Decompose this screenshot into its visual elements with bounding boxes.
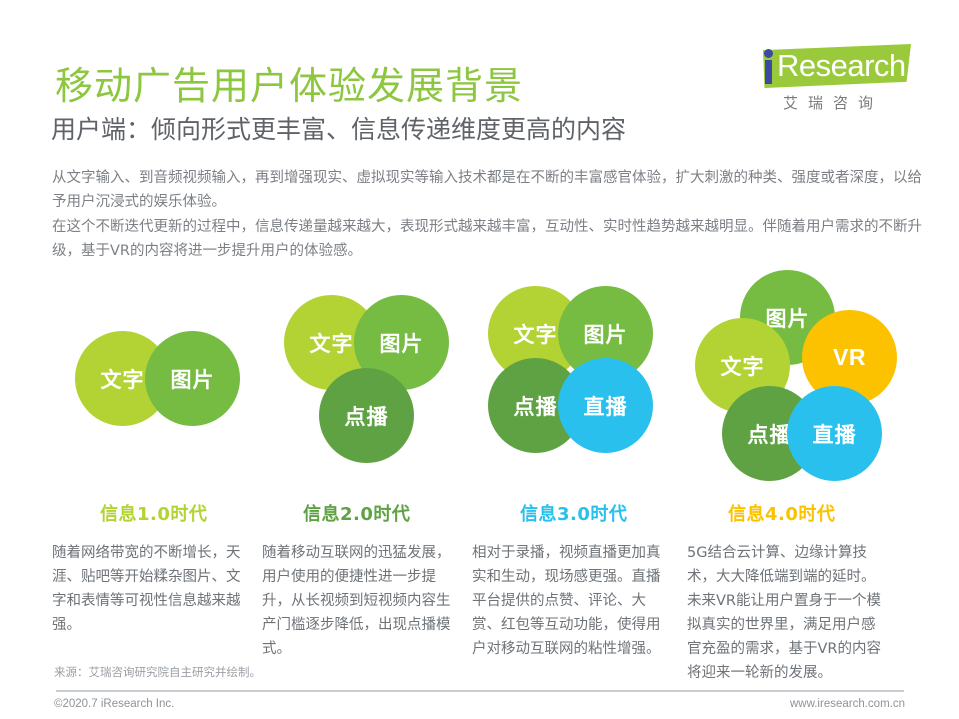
iresearch-logo: Research 艾瑞咨询 bbox=[741, 42, 911, 120]
source-note: 来源：艾瑞咨询研究院自主研究并绘制。 bbox=[54, 664, 261, 680]
description-stage-2: 随着移动互联网的迅猛发展，用户使用的便捷性进一步提升，从长视频到短视频内容生产门… bbox=[262, 541, 460, 661]
description-stage-4: 5G结合云计算、边缘计算技术，大大降低端到端的延时。未来VR能让用户置身于一个模… bbox=[687, 541, 885, 685]
description-stage-1: 随着网络带宽的不断增长，天涯、贴吧等开始糅杂图片、文字和表情等可视性信息越来越强… bbox=[52, 541, 250, 637]
venn-group-stage-3: 文字 图片 点播 直播 bbox=[480, 268, 700, 498]
venn-group-stage-4: 图片 文字 VR 点播 直播 bbox=[690, 268, 930, 498]
era-label-stage-1: 信息1.0时代 bbox=[100, 500, 207, 526]
era-label-stage-4: 信息4.0时代 bbox=[728, 500, 835, 526]
bubble-live-s3: 直播 bbox=[558, 358, 653, 453]
footer-divider bbox=[56, 690, 904, 692]
era-label-stage-2: 信息2.0时代 bbox=[303, 500, 410, 526]
logo-i-stem-icon bbox=[765, 60, 772, 84]
page-subtitle: 用户端：倾向形式更丰富、信息传递维度更高的内容 bbox=[51, 110, 626, 146]
footer-website: www.iresearch.com.cn bbox=[790, 698, 905, 710]
logo-brand-text: Research bbox=[777, 48, 906, 84]
era-label-stage-3: 信息3.0时代 bbox=[520, 500, 627, 526]
description-stage-3: 相对于录播，视频直播更加真实和生动，现场感更强。直播平台提供的点赞、评论、大赏、… bbox=[472, 541, 670, 661]
intro-paragraph-2: 在这个不断迭代更新的过程中，信息传递量越来越大，表现形式越来越丰富，互动性、实时… bbox=[52, 215, 924, 263]
logo-i-dot-icon bbox=[764, 49, 773, 58]
logo-brand-chinese: 艾瑞咨询 bbox=[783, 92, 883, 113]
venn-group-stage-1: 文字 图片 bbox=[62, 268, 262, 498]
venn-diagram-area: 文字 图片 文字 图片 点播 文字 图片 点播 直播 图片 文字 VR 点播 直… bbox=[0, 268, 959, 498]
logo-mark: Research bbox=[741, 42, 911, 90]
bubble-vod-s2: 点播 bbox=[319, 368, 414, 463]
intro-paragraph-1: 从文字输入、到音频视频输入，再到增强现实、虚拟现实等输入技术都是在不断的丰富感官… bbox=[52, 166, 924, 214]
venn-group-stage-2: 文字 图片 点播 bbox=[272, 268, 482, 498]
footer-copyright: ©2020.7 iResearch Inc. bbox=[54, 698, 174, 710]
bubble-live-s4: 直播 bbox=[787, 386, 882, 481]
bubble-image-s1: 图片 bbox=[145, 331, 240, 426]
page-title: 移动广告用户体验发展背景 bbox=[55, 55, 523, 110]
intro-block: 从文字输入、到音频视频输入，再到增强现实、虚拟现实等输入技术都是在不断的丰富感官… bbox=[52, 166, 924, 264]
slide-root: Research 艾瑞咨询 移动广告用户体验发展背景 用户端：倾向形式更丰富、信… bbox=[0, 0, 959, 719]
